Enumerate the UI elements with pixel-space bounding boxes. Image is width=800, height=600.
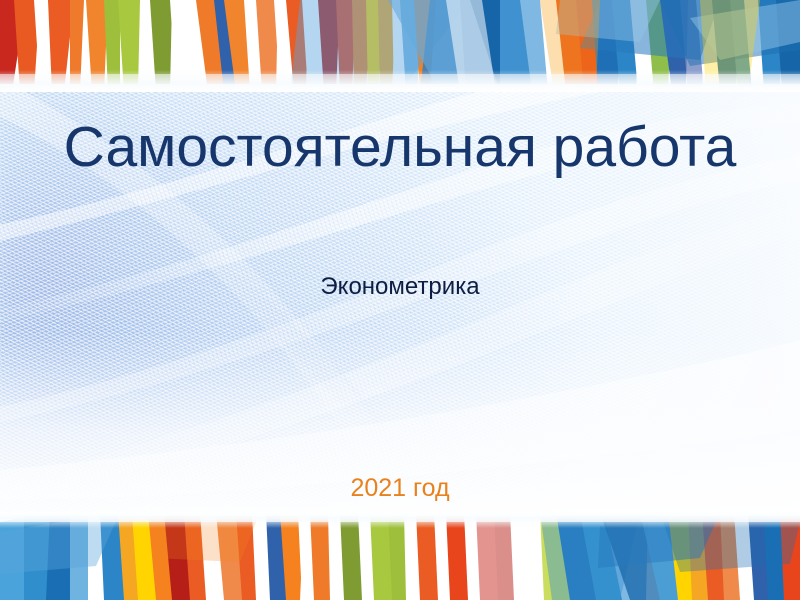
presentation-title-slide: Самостоятельная работа Эконометрика 2021… (0, 0, 800, 600)
top-banner (0, 0, 800, 92)
slide-year: 2021 год (0, 474, 800, 503)
slide-subtitle: Эконометрика (0, 273, 800, 301)
bottom-banner (0, 512, 800, 600)
page-title: Самостоятельная работа (0, 118, 800, 178)
bottom-banner-shards (0, 512, 800, 600)
top-banner-shards (0, 0, 800, 92)
